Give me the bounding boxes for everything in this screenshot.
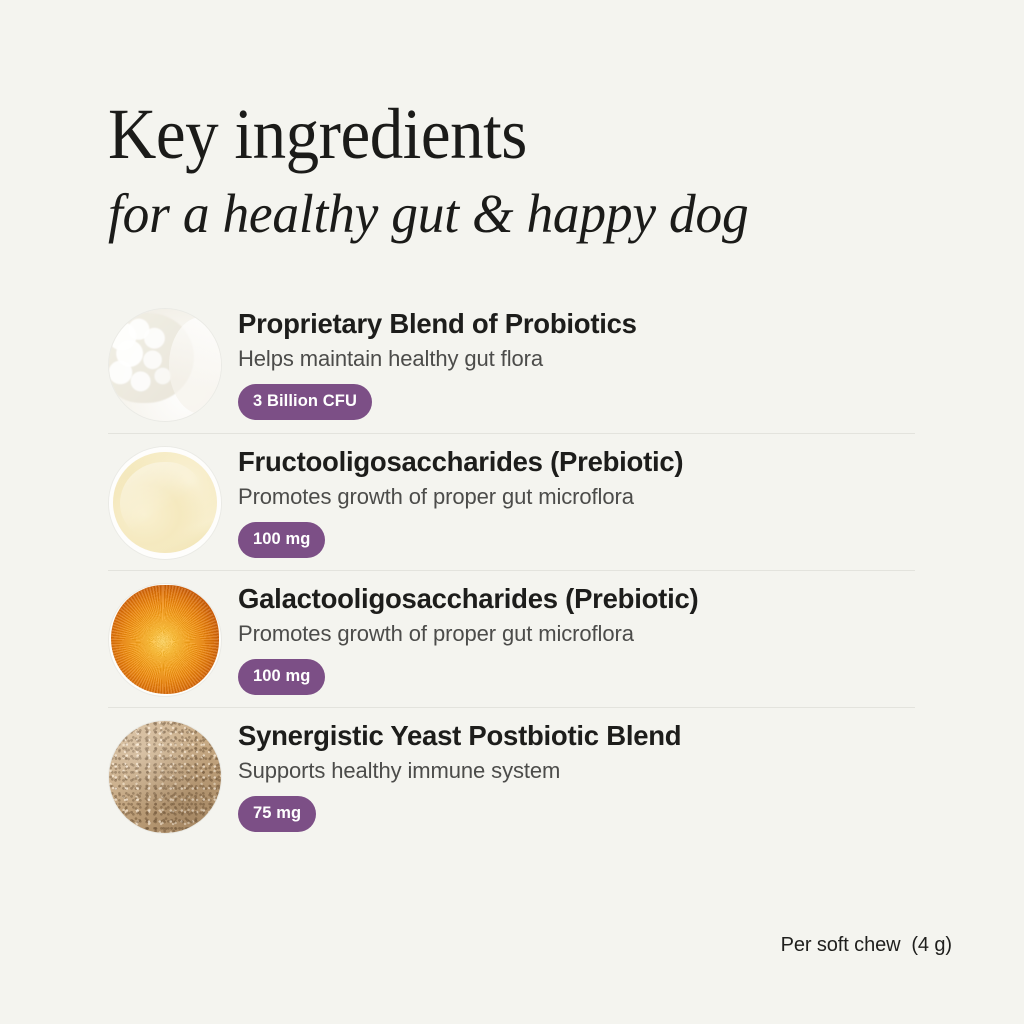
ingredient-amount-badge: 75 mg bbox=[238, 796, 316, 832]
ingredient-thumbnail-wrapper bbox=[108, 708, 238, 845]
serving-size-footnote: Per soft chew (4 g) bbox=[781, 932, 952, 958]
ingredient-description: Helps maintain healthy gut flora bbox=[238, 345, 915, 373]
yeast-granule-thumbnail bbox=[109, 721, 221, 833]
ingredient-name: Synergistic Yeast Postbiotic Blend bbox=[238, 719, 915, 752]
ingredient-thumbnail-wrapper bbox=[108, 434, 238, 571]
ingredient-row: Synergistic Yeast Postbiotic Blend Suppo… bbox=[108, 707, 915, 844]
ingredient-text-block: Synergistic Yeast Postbiotic Blend Suppo… bbox=[238, 708, 915, 832]
page-title: Key ingredients bbox=[108, 96, 889, 172]
ingredient-description: Promotes growth of proper gut microflora bbox=[238, 620, 915, 648]
ingredient-row: Galactooligosaccharides (Prebiotic) Prom… bbox=[108, 570, 915, 707]
ingredient-amount-badge: 100 mg bbox=[238, 659, 325, 695]
page-subtitle: for a healthy gut & happy dog bbox=[108, 184, 923, 244]
ingredient-thumbnail-wrapper bbox=[108, 296, 238, 433]
ingredient-text-block: Fructooligosaccharides (Prebiotic) Promo… bbox=[238, 434, 915, 558]
ingredient-name: Fructooligosaccharides (Prebiotic) bbox=[238, 445, 915, 478]
ingredient-description: Promotes growth of proper gut microflora bbox=[238, 483, 915, 511]
ingredient-thumbnail-wrapper bbox=[108, 571, 238, 708]
heading-block: Key ingredients for a healthy gut & happ… bbox=[108, 96, 948, 244]
galactooligosaccharide-slice-thumbnail bbox=[109, 584, 221, 696]
ingredient-description: Supports healthy immune system bbox=[238, 757, 915, 785]
ingredient-name: Proprietary Blend of Probiotics bbox=[238, 307, 915, 340]
ingredient-list: Proprietary Blend of Probiotics Helps ma… bbox=[108, 296, 915, 844]
ingredient-text-block: Proprietary Blend of Probiotics Helps ma… bbox=[238, 296, 915, 420]
probiotic-cream-thumbnail bbox=[109, 309, 221, 421]
ingredient-amount-badge: 3 Billion CFU bbox=[238, 384, 372, 420]
ingredient-row: Proprietary Blend of Probiotics Helps ma… bbox=[108, 296, 915, 433]
key-ingredients-infographic: Key ingredients for a healthy gut & happ… bbox=[0, 0, 1024, 1024]
fructooligosaccharide-cream-thumbnail bbox=[109, 447, 221, 559]
ingredient-row: Fructooligosaccharides (Prebiotic) Promo… bbox=[108, 433, 915, 570]
ingredient-text-block: Galactooligosaccharides (Prebiotic) Prom… bbox=[238, 571, 915, 695]
ingredient-amount-badge: 100 mg bbox=[238, 522, 325, 558]
ingredient-name: Galactooligosaccharides (Prebiotic) bbox=[238, 582, 915, 615]
